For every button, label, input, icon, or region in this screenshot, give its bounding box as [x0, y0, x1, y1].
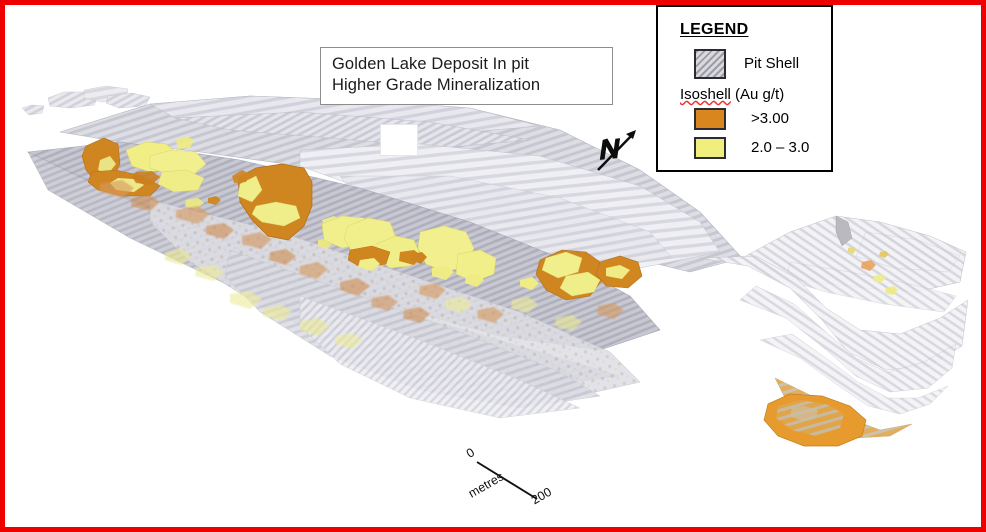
legend-swatch-pit-shell [694, 49, 726, 79]
legend-label-mid-grade: 2.0 – 3.0 [751, 139, 809, 156]
figure-root: Golden Lake Deposit In pit Higher Grade … [0, 0, 986, 532]
title-line-1: Golden Lake Deposit In pit [332, 54, 612, 75]
legend-label-pit-shell: Pit Shell [744, 55, 799, 72]
legend: LEGEND Pit Shell Isoshell (Au g/t) >3.00… [656, 5, 833, 172]
title-caption-box: Golden Lake Deposit In pit Higher Grade … [320, 47, 613, 105]
legend-swatch-mid-grade [694, 137, 726, 159]
legend-isoshell-units: (Au g/t) [731, 86, 784, 103]
isoshell-high-pod-right [764, 394, 866, 446]
legend-isoshell-heading: Isoshell (Au g/t) [680, 86, 784, 103]
north-arrow [592, 124, 644, 176]
legend-isoshell-word: Isoshell [680, 86, 731, 103]
legend-label-high-grade: >3.00 [751, 110, 789, 127]
north-arrow-icon [592, 124, 644, 176]
legend-swatch-high-grade [694, 108, 726, 130]
legend-heading: LEGEND [680, 21, 748, 39]
title-line-2: Higher Grade Mineralization [332, 75, 612, 96]
blank-callout-box [380, 124, 418, 156]
scale-bar: 0 metres 200 [455, 442, 575, 522]
